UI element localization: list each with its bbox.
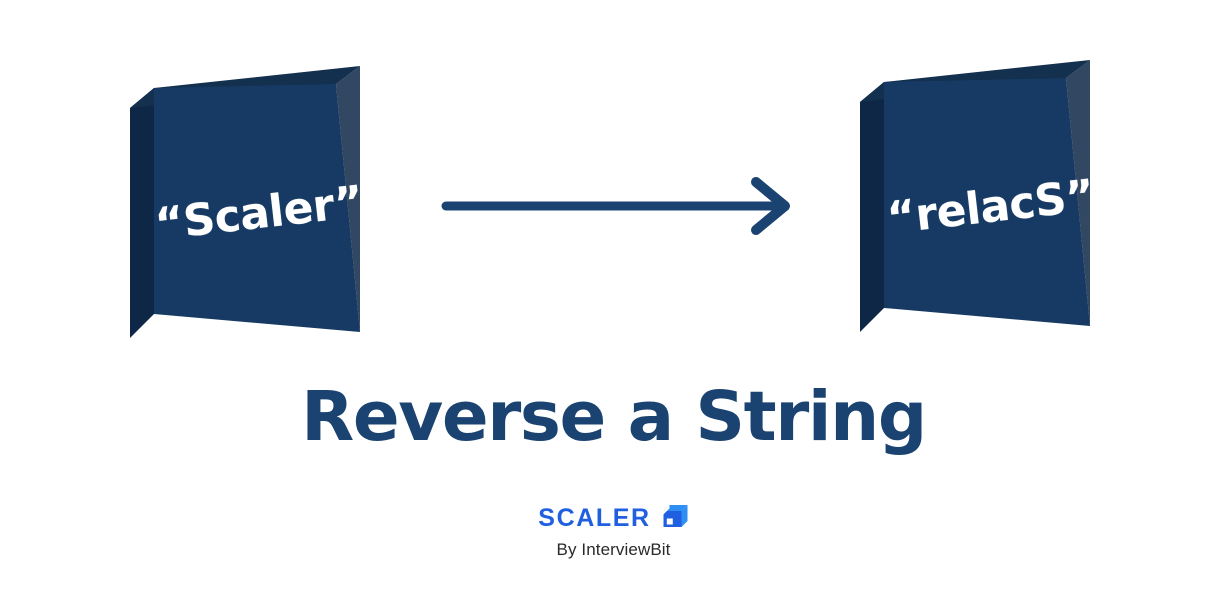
scaler-cube-icon — [662, 504, 689, 532]
illustration-canvas: “Scaler” “relacS” Reverse a String SCALE… — [0, 0, 1227, 601]
box-left-face — [130, 88, 154, 338]
page-title: Reverse a String — [0, 375, 1227, 459]
arrow-icon — [440, 176, 796, 238]
scaler-logo: SCALER — [538, 503, 688, 533]
box-front-face — [154, 84, 360, 332]
output-box-3d-shape — [858, 56, 1118, 346]
output-string-box: “relacS” — [858, 56, 1118, 346]
scaler-wordmark: SCALER — [538, 506, 650, 531]
cube-notch — [666, 519, 672, 525]
brand-tagline: By InterviewBit — [557, 541, 671, 558]
input-string-box: “Scaler” — [128, 62, 388, 352]
box-front-face — [884, 78, 1090, 326]
box-left-face — [860, 82, 884, 332]
brand-footer: SCALER By InterviewBit — [0, 503, 1227, 558]
transform-arrow — [440, 176, 796, 238]
input-box-3d-shape — [128, 62, 388, 352]
